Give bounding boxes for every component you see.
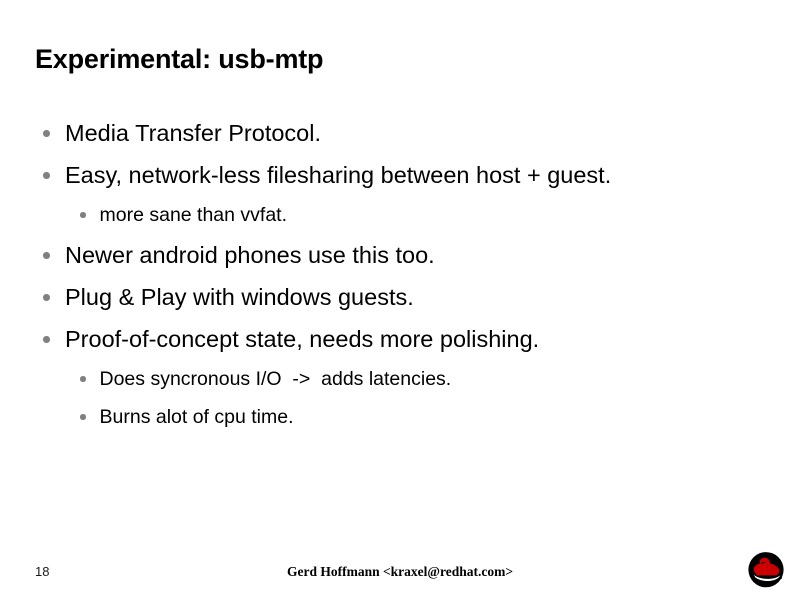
list-item-label: Does syncronous I/O -> adds latencies.	[100, 360, 776, 398]
list-item-label: Proof-of-concept state, needs more polis…	[65, 318, 775, 360]
list-item-label: Easy, network-less filesharing between h…	[65, 154, 775, 196]
bullet-dot-icon	[43, 130, 50, 137]
list-item-label: Burns alot of cpu time.	[100, 398, 776, 436]
list-item-label: Media Transfer Protocol.	[65, 112, 775, 154]
bullet-dot-icon	[43, 172, 50, 179]
list-item-label: Newer android phones use this too.	[65, 234, 775, 276]
list-item: Easy, network-less filesharing between h…	[35, 154, 775, 196]
footer-author: Gerd Hoffmann <kraxel@redhat.com>	[0, 563, 800, 581]
list-item: more sane than vvfat.	[35, 196, 775, 234]
list-item-label: Plug & Play with windows guests.	[65, 276, 775, 318]
list-item: Newer android phones use this too.	[35, 234, 775, 276]
list-item: Burns alot of cpu time.	[35, 398, 775, 436]
list-item: Proof-of-concept state, needs more polis…	[35, 318, 775, 360]
bullet-dot-icon	[80, 212, 86, 218]
list-item-label: more sane than vvfat.	[100, 196, 776, 234]
list-item: Plug & Play with windows guests.	[35, 276, 775, 318]
bullet-dot-icon	[43, 294, 50, 301]
redhat-shadowman-logo-icon	[744, 549, 788, 593]
list-item: Does syncronous I/O -> adds latencies.	[35, 360, 775, 398]
bullet-list: Media Transfer Protocol. Easy, network-l…	[35, 112, 775, 436]
bullet-dot-icon	[43, 252, 50, 259]
bullet-dot-icon	[43, 336, 50, 343]
bullet-dot-icon	[80, 376, 86, 382]
bullet-dot-icon	[80, 414, 86, 420]
list-item: Media Transfer Protocol.	[35, 112, 775, 154]
slide-title: Experimental: usb-mtp	[35, 42, 765, 76]
slide: Experimental: usb-mtp Media Transfer Pro…	[0, 0, 800, 600]
